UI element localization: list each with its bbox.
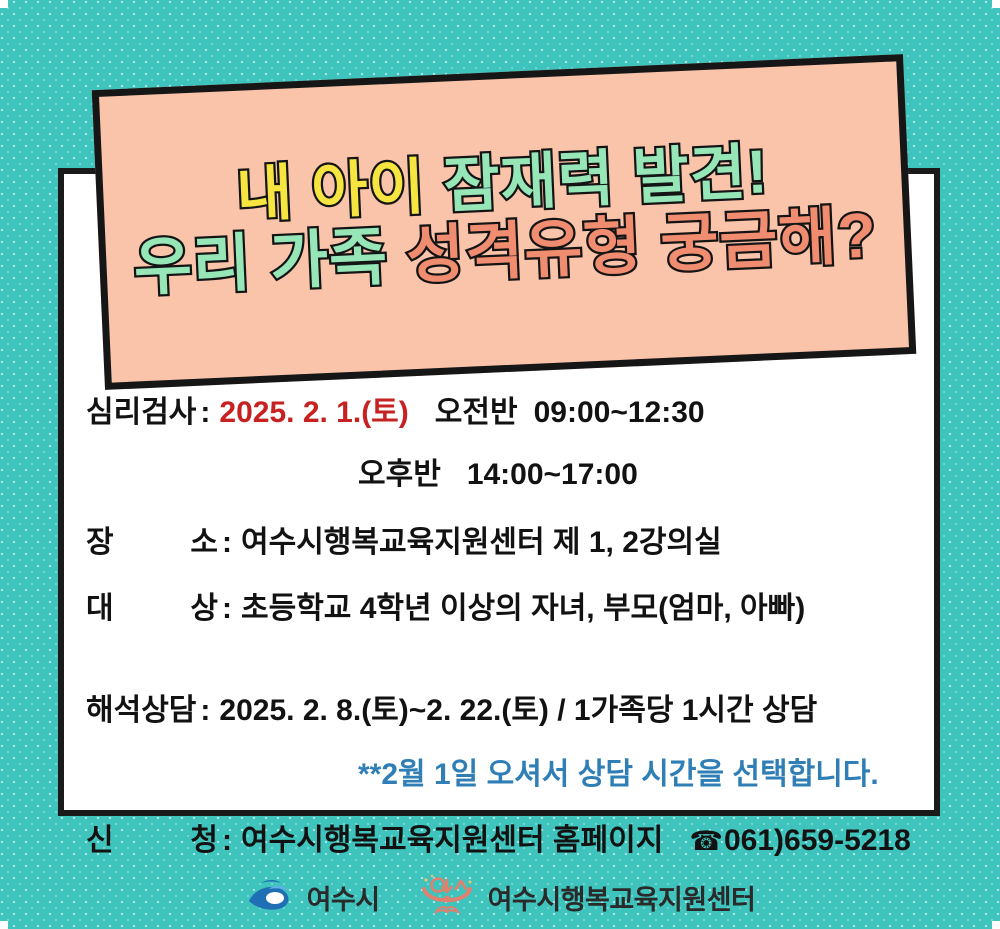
happy-education-center-logo-icon <box>416 873 478 922</box>
label-audience-char-1: 대 <box>86 594 114 624</box>
logo-group-yeosu-city: 여수시 <box>245 875 380 920</box>
corner-nick-top-left <box>0 0 8 8</box>
colon-1: : <box>196 398 219 428</box>
title-text-mint-2: 우리 가족 <box>132 222 389 303</box>
colon-3: : <box>218 528 241 558</box>
value-counseling: 2025. 2. 8.(토)~2. 22.(토) / 1가족당 1시간 상담 <box>219 696 817 726</box>
value-phone: 061)659-5218 <box>724 826 911 856</box>
label-application: 신 청 <box>86 826 218 856</box>
value-morning-time: 09:00~12:30 <box>534 398 705 428</box>
value-audience: 초등학교 4학년 이상의 자녀, 부모(엄마, 아빠) <box>241 594 805 624</box>
poster-root: 내 아이 잠재력 발견! 우리 가족 성격유형 궁금해? 심리검사 : 2025… <box>0 0 1000 929</box>
label-location: 장 소 <box>86 528 218 558</box>
value-test-date: 2025. 2. 1.(토) <box>219 398 408 428</box>
corner-nick-top-right <box>992 0 1000 8</box>
colon-7: : <box>218 826 241 856</box>
yeosu-city-wave-logo-icon <box>245 875 297 920</box>
phone-number-group: ☎ 061)659-5218 <box>689 826 910 856</box>
label-application-char-1: 신 <box>86 826 114 856</box>
title-text-yellow: 내 아이 <box>235 152 427 228</box>
telephone-icon: ☎ <box>689 828 723 855</box>
label-audience: 대 상 <box>86 594 218 624</box>
value-location: 여수시행복교육지원센터 제 1, 2강의실 <box>241 528 722 558</box>
detail-row-application: 신 청 : 여수시행복교육지원센터 홈페이지 ☎ 061)659-5218 <box>86 826 926 856</box>
label-location-char-2: 소 <box>190 528 218 558</box>
value-afternoon-time: 14:00~17:00 <box>467 460 638 490</box>
detail-row-audience: 대 상 : 초등학교 4학년 이상의 자녀, 부모(엄마, 아빠) <box>86 594 926 624</box>
logo-label-yeosu-city: 여수시 <box>307 878 380 917</box>
value-morning-session: 오전반 <box>435 398 518 428</box>
colon-4: : <box>218 594 241 624</box>
colon-5: : <box>196 696 219 726</box>
title-banner: 내 아이 잠재력 발견! 우리 가족 성격유형 궁금해? <box>92 54 917 390</box>
detail-row-test-date: 심리검사 : 2025. 2. 1.(토) 오전반 09:00~12:30 <box>86 398 926 428</box>
label-application-char-2: 청 <box>190 826 218 856</box>
label-location-char-1: 장 <box>86 528 114 558</box>
label-psych-test: 심리검사 <box>86 398 196 428</box>
detail-row-location: 장 소 : 여수시행복교육지원센터 제 1, 2강의실 <box>86 528 926 558</box>
details-block: 심리검사 : 2025. 2. 1.(토) 오전반 09:00~12:30 오후… <box>86 398 926 856</box>
detail-row-counseling: 해석상담 : 2025. 2. 8.(토)~2. 22.(토) / 1가족당 1… <box>86 696 926 726</box>
footer-logos: 여수시 여수시행복교육지원센터 <box>0 868 1000 926</box>
detail-row-note: **2월 1일 오셔서 상담 시간을 선택합니다. <box>86 760 926 790</box>
logo-group-education-center: 여수시행복교육지원센터 <box>416 873 756 922</box>
value-afternoon-session: 오후반 <box>358 460 441 490</box>
logo-label-education-center: 여수시행복교육지원센터 <box>488 878 756 917</box>
value-note: **2월 1일 오셔서 상담 시간을 선택합니다. <box>358 760 879 790</box>
detail-row-afternoon: 오후반 14:00~17:00 <box>86 460 926 490</box>
value-application: 여수시행복교육지원센터 홈페이지 <box>241 826 663 856</box>
label-audience-char-2: 상 <box>190 594 218 624</box>
label-counseling: 해석상담 <box>86 696 196 726</box>
